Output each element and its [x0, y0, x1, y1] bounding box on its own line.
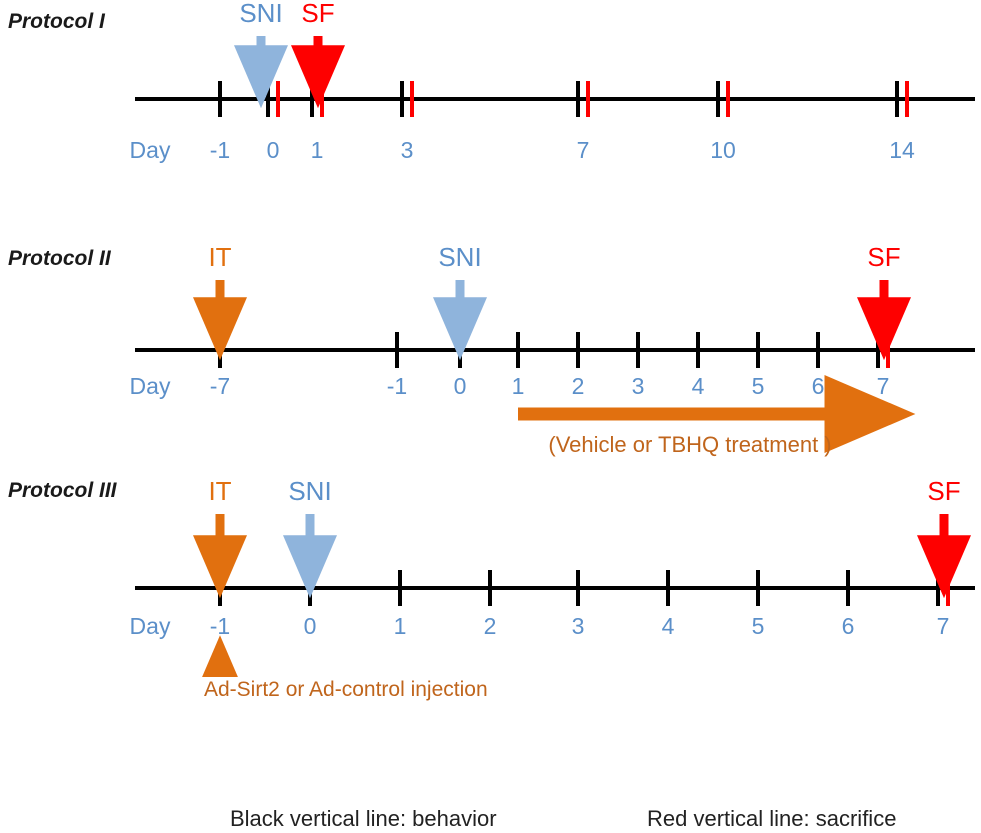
protocol-1-day-word: Day [130, 137, 171, 163]
protocol-1-day-label-1: 1 [311, 137, 324, 163]
protocol-3-day-label-1: 1 [394, 613, 407, 639]
protocol-2-treatment-bar: (Vehicle or TBHQ treatment ) [518, 414, 866, 457]
protocol-2-treatment-label: (Vehicle or TBHQ treatment ) [548, 432, 831, 457]
protocol-1-day-label-7: 7 [577, 137, 590, 163]
protocol-3-day-label-7: 7 [937, 613, 950, 639]
protocol-3-injection-label: Ad-Sirt2 or Ad-control injection [204, 678, 488, 701]
protocol-2-day-label-6: 6 [812, 373, 825, 399]
protocol-2-day-label-3: 3 [632, 373, 645, 399]
protocol-2-day-label-1: 1 [512, 373, 525, 399]
protocol-2-day-label--1: -1 [387, 373, 407, 399]
protocol-2-event-label-sni: SNI [438, 242, 481, 272]
protocol-2-day-word: Day [130, 373, 171, 399]
protocol-3-day-label-5: 5 [752, 613, 765, 639]
legend-red: Red vertical line: sacrifice [647, 806, 896, 831]
protocol-2-event-label-sf: SF [867, 242, 900, 272]
protocol-1-day-label-10: 10 [710, 137, 736, 163]
protocol-3-event-label-it: IT [208, 476, 231, 506]
protocol-3-day-label--1: -1 [210, 613, 230, 639]
legend-black: Black vertical line: behavior [230, 806, 497, 831]
protocol-2-day-label--7: -7 [210, 373, 230, 399]
protocol-1-title: Protocol I [8, 10, 106, 33]
protocol-2-day-label-2: 2 [572, 373, 585, 399]
protocol-2-day-label-0: 0 [454, 373, 467, 399]
protocol-3-day-label-2: 2 [484, 613, 497, 639]
protocol-1-day-label-3: 3 [401, 137, 414, 163]
protocol-3-day-label-4: 4 [662, 613, 675, 639]
protocol-timeline-figure: Protocol IDay-101371014SNISFProtocol IID… [0, 0, 981, 833]
protocol-3-day-word: Day [130, 613, 171, 639]
protocol-3-title: Protocol III [8, 479, 118, 502]
protocol-3-day-label-0: 0 [304, 613, 317, 639]
protocol-1-event-label-sni: SNI [239, 0, 282, 28]
protocol-1-event-label-sf: SF [301, 0, 334, 28]
protocol-2-day-label-4: 4 [692, 373, 705, 399]
protocol-3-event-label-sni: SNI [288, 476, 331, 506]
protocol-1-day-label-14: 14 [889, 137, 915, 163]
protocol-1-day-label-0: 0 [267, 137, 280, 163]
protocol-2-day-label-7: 7 [877, 373, 890, 399]
protocol-3-day-label-6: 6 [842, 613, 855, 639]
protocol-2-title: Protocol II [8, 247, 112, 270]
protocol-2-day-label-5: 5 [752, 373, 765, 399]
protocol-3-event-label-sf: SF [927, 476, 960, 506]
protocol-2-event-label-it: IT [208, 242, 231, 272]
protocol-1-day-label--1: -1 [210, 137, 230, 163]
protocol-3-day-label-3: 3 [572, 613, 585, 639]
